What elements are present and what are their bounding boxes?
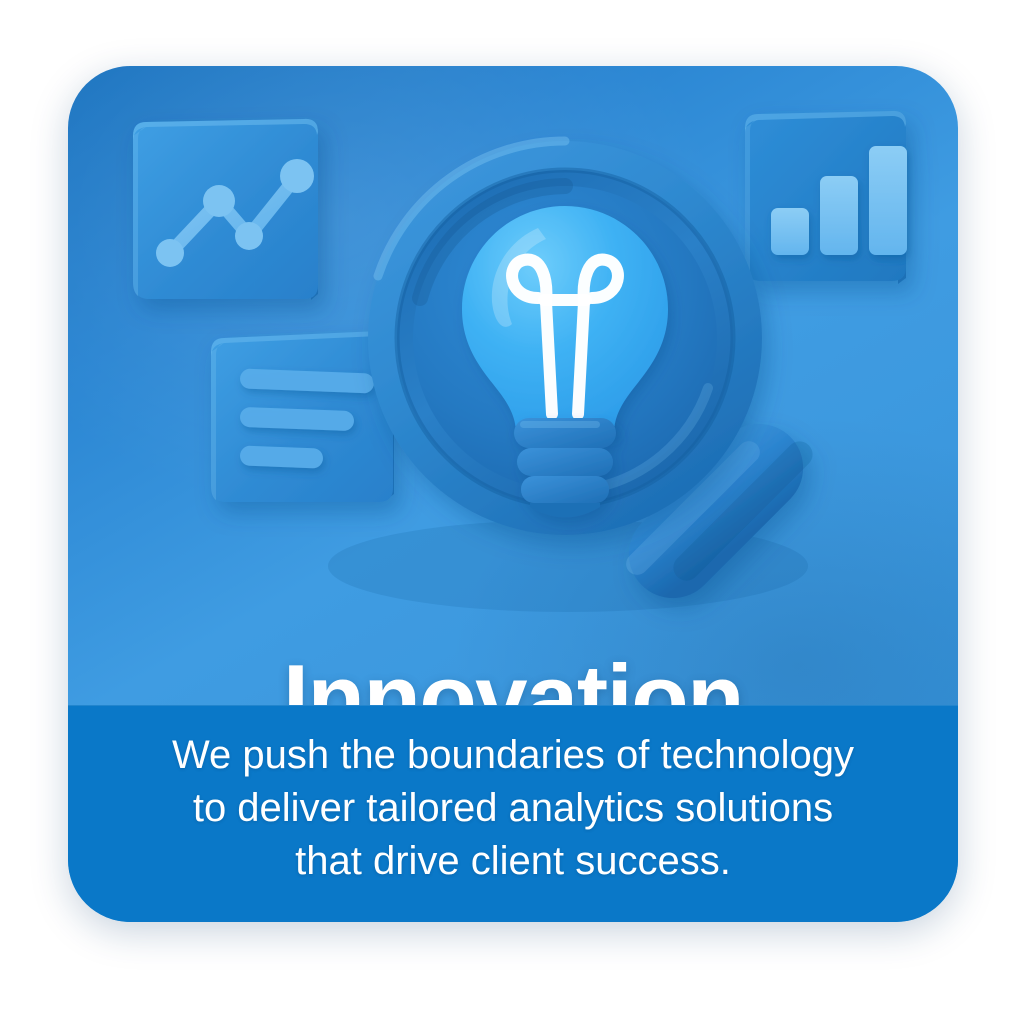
panel-divider bbox=[68, 705, 958, 706]
bar-chart-card bbox=[745, 111, 907, 284]
description-text: We push the boundaries of technology to … bbox=[116, 729, 910, 888]
innovation-card: Innovation We push the boundaries of tec… bbox=[68, 66, 958, 922]
description-line-2: to deliver tailored analytics solutions bbox=[116, 782, 910, 835]
line-chart-card bbox=[133, 118, 318, 302]
canvas: Innovation We push the boundaries of tec… bbox=[0, 0, 1024, 1024]
description-line-1: We push the boundaries of technology bbox=[116, 729, 910, 782]
hero-illustration bbox=[68, 66, 958, 705]
description-line-3: that drive client success. bbox=[116, 835, 910, 888]
description-panel: We push the boundaries of technology to … bbox=[68, 705, 958, 922]
document-card bbox=[211, 331, 394, 502]
